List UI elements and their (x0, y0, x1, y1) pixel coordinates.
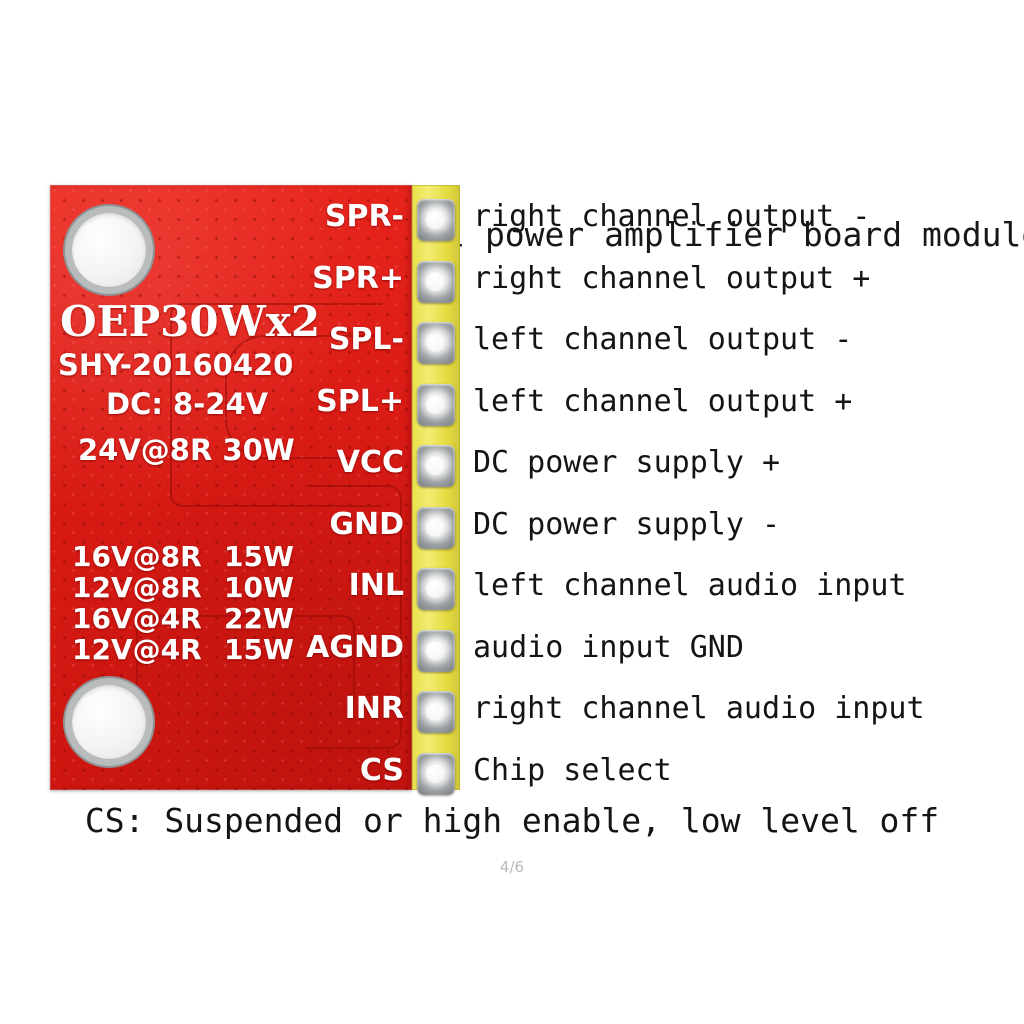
pin-label-vcc: VCC (240, 448, 404, 478)
pin-description: DC power supply - (473, 509, 780, 541)
pin-label-agnd: AGND (240, 633, 404, 663)
pin-description: right channel output - (473, 201, 870, 233)
pin-label-spr: SPR- (240, 202, 404, 232)
solder-pad-vcc (417, 445, 455, 487)
pin-label-inl: INL (240, 571, 404, 601)
power-condition: 12V@8R (72, 572, 224, 603)
pin-description: audio input GND (473, 632, 744, 664)
solder-pad-spr (417, 261, 455, 303)
power-condition: 16V@8R (72, 541, 224, 572)
pin-description: right channel output + (473, 263, 870, 295)
pin-description: left channel output - (473, 324, 852, 356)
pin-label-cs: CS (240, 756, 404, 786)
pin-label-inr: INR (240, 694, 404, 724)
footer-note: CS: Suspended or high enable, low level … (0, 802, 1024, 840)
solder-pad-inl (417, 568, 455, 610)
amplifier-board: OEP30Wx2 SHY-20160420 DC: 8-24V 24V@8R 3… (50, 185, 460, 790)
page-indicator: 4/6 (0, 858, 1024, 876)
pin-label-spl: SPL- (240, 325, 404, 355)
pin-label-spr: SPR+ (240, 264, 404, 294)
solder-pad-spl (417, 384, 455, 426)
pin-description: DC power supply + (473, 447, 780, 479)
solder-pad-cs (417, 753, 455, 795)
pin-description: left channel audio input (473, 570, 906, 602)
power-condition: 12V@4R (72, 634, 224, 665)
pin-description: right channel audio input (473, 693, 925, 725)
mounting-hole-bottom (72, 685, 146, 759)
solder-pad-spr (417, 199, 455, 241)
solder-pad-spl (417, 322, 455, 364)
pin-label-column: SPR-SPR+SPL-SPL+VCCGNDINLAGNDINRCS (240, 185, 408, 790)
pin-label-spl: SPL+ (240, 387, 404, 417)
power-condition: 16V@4R (72, 603, 224, 634)
terminal-pad-strip (412, 185, 460, 790)
pin-description-column: right channel output -right channel outp… (473, 185, 1018, 790)
solder-pad-inr (417, 691, 455, 733)
pin-label-gnd: GND (240, 510, 404, 540)
solder-pad-agnd (417, 630, 455, 672)
mounting-hole-top (72, 213, 146, 287)
pin-description: left channel output + (473, 386, 852, 418)
solder-pad-gnd (417, 507, 455, 549)
pin-description: Chip select (473, 755, 672, 787)
header-banner: 30W Digital power amplifier board module (0, 92, 1024, 172)
